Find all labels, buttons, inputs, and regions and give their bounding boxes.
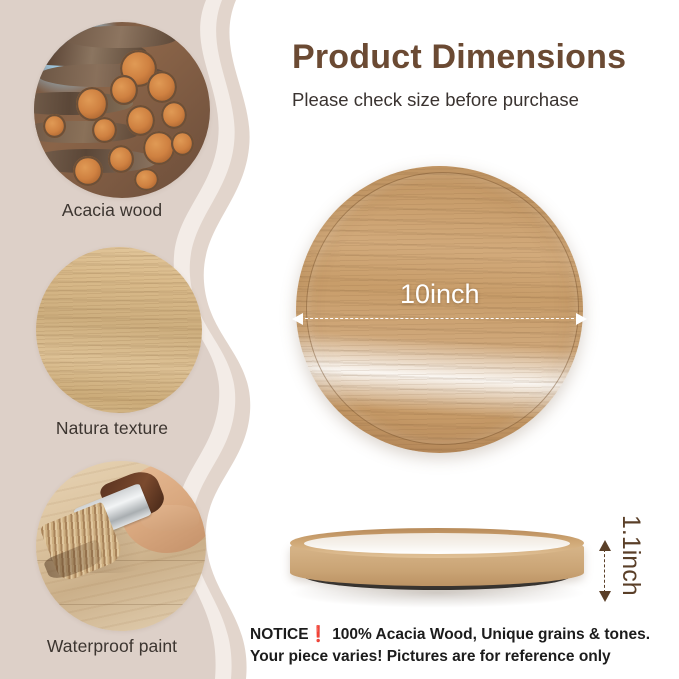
sidebar-item-natural-texture[interactable]: Natura texture <box>0 215 240 450</box>
notice-line1: 100% Acacia Wood, Unique grains & tones. <box>332 626 650 643</box>
width-dimension-label: 10inch <box>400 279 480 310</box>
arrow-head-left-icon <box>292 313 303 325</box>
page-title: Product Dimensions <box>292 38 626 77</box>
height-dimension-label: 1.1inch <box>616 515 645 596</box>
arrow-head-up-icon <box>599 540 611 551</box>
width-dimension-arrow <box>292 318 587 320</box>
acacia-wood-image <box>34 22 210 198</box>
product-top-view: 10inch <box>296 166 583 453</box>
infographic-page: Acacia wood Natura texture <box>0 0 679 679</box>
notice-line2: Your piece varies! Pictures are for refe… <box>250 646 650 668</box>
height-dimension-arrow <box>604 540 606 602</box>
notice-text: NOTICE❗ 100% Acacia Wood, Unique grains … <box>250 624 650 669</box>
sidebar-item-acacia-wood[interactable]: Acacia wood <box>0 0 240 240</box>
dimension-dashed-line <box>604 549 605 593</box>
product-side-view: 1.1inch <box>282 520 592 606</box>
arrow-head-down-icon <box>599 591 611 602</box>
natural-texture-image <box>36 247 202 413</box>
tray-inner-surface <box>304 533 570 554</box>
sidebar-item-waterproof-paint[interactable]: Waterproof paint <box>0 428 240 673</box>
arrow-head-right-icon <box>576 313 587 325</box>
warning-icon: ❗ <box>309 626 328 643</box>
paintbrush-on-wood-photo <box>36 461 206 631</box>
dimension-dashed-line <box>300 318 579 319</box>
sidebar-item-label: Waterproof paint <box>0 636 232 657</box>
page-subtitle: Please check size before purchase <box>292 89 579 111</box>
notice-prefix: NOTICE <box>250 626 309 643</box>
waterproof-paint-image <box>36 461 206 631</box>
wood-grain-photo <box>36 247 202 413</box>
stacked-logs-photo <box>34 22 210 198</box>
